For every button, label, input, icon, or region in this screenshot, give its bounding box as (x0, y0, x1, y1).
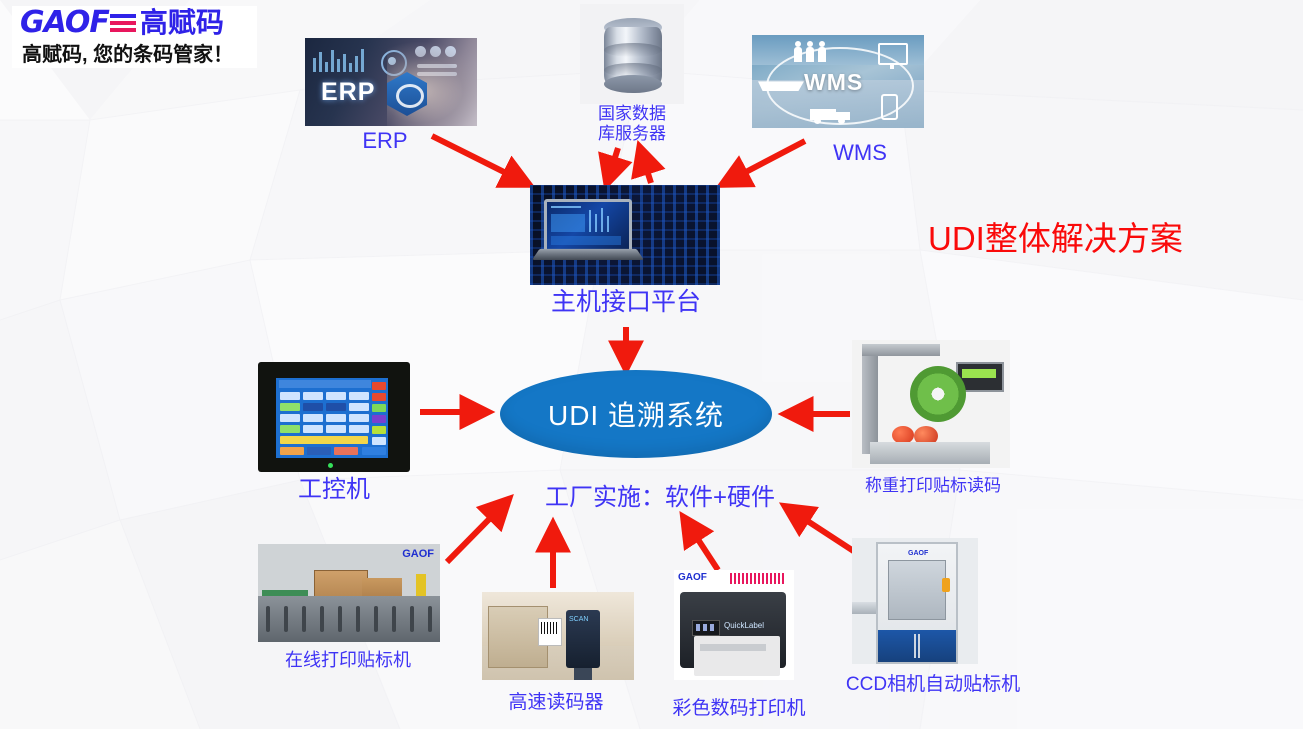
db-cylinder-shape (604, 18, 662, 90)
hmi-screen (276, 378, 388, 458)
label-color-digital-printer: 彩色数码打印机 (664, 698, 814, 720)
label-factory-implementation: 工厂实施：软件+硬件 (520, 484, 800, 512)
hmi-power-led (328, 463, 333, 468)
label-ccd-auto-labeler: CCD相机自动贴标机 (838, 674, 1028, 696)
wms-image-text: WMS (804, 69, 863, 96)
wms-monitor-icon (878, 43, 908, 65)
udi-traceability-system-label: UDI 追溯系统 (548, 394, 724, 434)
label-weigh-print-label-read: 称重打印贴标读码 (838, 476, 1028, 496)
label-high-speed-reader: 高速读码器 (486, 692, 626, 714)
reader-device-brand: SCAN (569, 616, 588, 623)
cprint-barcode-strip-icon (730, 573, 786, 584)
ccd-cabinet: GAOF (876, 542, 958, 664)
udi-traceability-system-node[interactable]: UDI 追溯系统 (500, 370, 772, 458)
online-gaof-watermark: GAOF (402, 548, 434, 560)
label-online-print-apply: 在线打印贴标机 (248, 650, 448, 671)
database-cylinder-icon (580, 4, 684, 104)
arrow-online-to-center (447, 500, 508, 562)
laptop-shape (544, 199, 630, 261)
hmi-screen-header (279, 380, 371, 388)
wms-people-icon (794, 41, 834, 63)
erp-dashboard-image: ERP (305, 38, 477, 126)
arrow-cprint-to-center (684, 518, 718, 570)
erp-image-text: ERP (321, 78, 375, 107)
label-national-db-server: 国家数据 库服务器 (572, 104, 692, 143)
online-print-apply-machine-image: GAOF (258, 544, 440, 642)
label-industrial-pc: 工控机 (274, 476, 394, 504)
reader-stand (574, 668, 592, 680)
reader-barcode-label (538, 618, 562, 646)
cprint-control-panel (692, 620, 720, 636)
cprint-output-tray (694, 636, 780, 676)
arrow-db-to-host (607, 148, 618, 183)
label-erp: ERP (325, 128, 445, 153)
arrow-ccd-to-center (786, 507, 855, 552)
weigh-print-label-machine-image (852, 340, 1010, 468)
laptop-keyboard (532, 249, 644, 260)
label-host-interface-platform: 主机接口平台 (526, 288, 726, 317)
wms-truck-icon (810, 105, 856, 122)
arrow-host-to-db (640, 148, 651, 183)
online-conveyor-belt (258, 596, 440, 642)
cprint-gaof-watermark: GAOF (678, 572, 707, 583)
weigh-scale-platform (870, 442, 990, 464)
ccd-window (888, 560, 946, 620)
erp-hud-bars-icon (313, 46, 373, 72)
weigh-label-reel (910, 366, 966, 422)
cprint-brand-text: QuickLabel (724, 621, 764, 630)
arrow-erp-to-host (432, 136, 528, 184)
data-center-laptop-image (530, 185, 720, 285)
weigh-arm (862, 344, 940, 356)
ccd-indicator-lamp (942, 578, 950, 592)
high-speed-barcode-reader-image: SCAN (482, 592, 634, 680)
label-wms: WMS (800, 140, 920, 165)
reader-scanner-device: SCAN (566, 610, 600, 668)
slide-canvas: GAOF 高赋码 高赋码, 您的条码管家！ UDI整体解决方案 (0, 0, 1303, 729)
cprint-body: QuickLabel (680, 592, 786, 668)
ccd-gaof-watermark: GAOF (908, 550, 928, 557)
wms-logistics-image: WMS (752, 35, 924, 128)
ccd-base (878, 630, 956, 662)
hmi-touch-panel-image (258, 362, 410, 472)
color-digital-printer-image: GAOF QuickLabel (674, 570, 794, 680)
wms-phone-icon (881, 94, 898, 120)
laptop-screen (544, 199, 632, 253)
arrow-wms-to-host (723, 141, 805, 184)
weigh-frame (862, 344, 878, 454)
ccd-camera-auto-labeler-image: GAOF (852, 538, 978, 664)
